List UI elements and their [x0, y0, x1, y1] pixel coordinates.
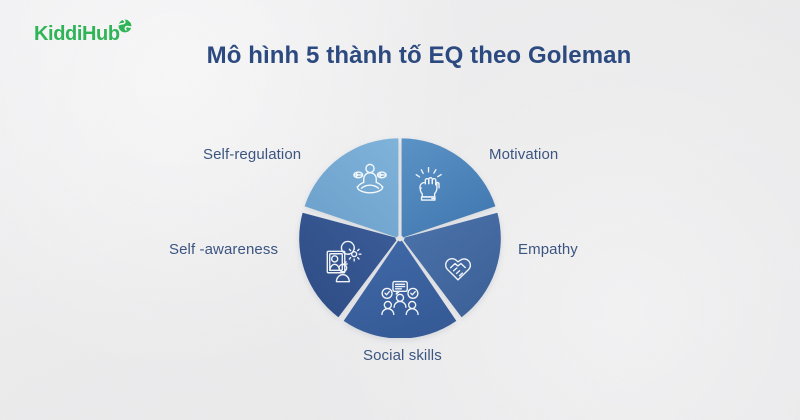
slide-canvas: KiddiHub Mô hình 5 thành tố EQ theo Gole…: [0, 0, 800, 420]
segment-label-motivation: Motivation: [489, 146, 558, 163]
globe-icon: [117, 18, 133, 34]
segment-label-empathy: Empathy: [518, 241, 578, 258]
segment-label-social-skills: Social skills: [363, 347, 442, 364]
segment-label-self-awareness: Self -awareness: [169, 241, 278, 258]
eq-donut-chart: [299, 136, 501, 338]
segment-label-self-regulation: Self-regulation: [203, 146, 301, 163]
page-title: Mô hình 5 thành tố EQ theo Goleman: [0, 42, 800, 70]
